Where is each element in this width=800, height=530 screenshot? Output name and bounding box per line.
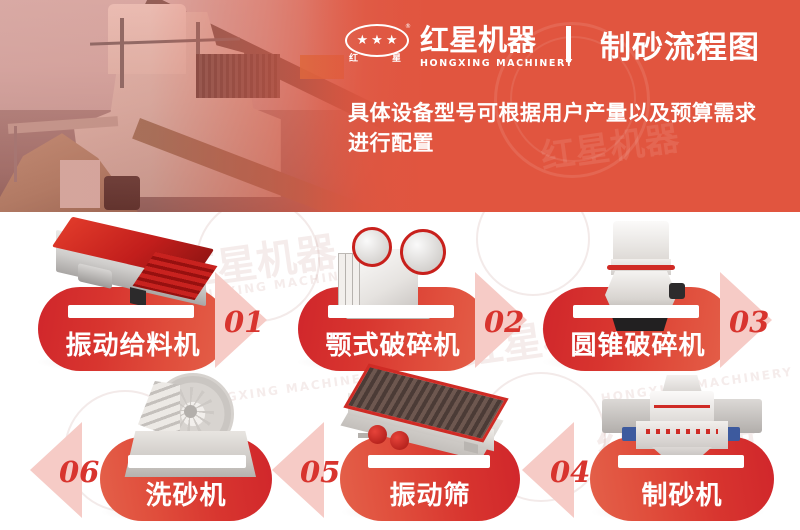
header-subtitle: 具体设备型号可根据用户产量以及预算需求进行配置	[348, 98, 768, 159]
step-04-label: 制砂机	[590, 475, 774, 512]
cone-crusher-motor	[669, 283, 685, 299]
sand-washer-tank	[122, 431, 256, 477]
step-05-accent-bar	[368, 455, 490, 468]
hongxing-logo-icon: ★ ★ ★ ® 红 星	[345, 24, 411, 70]
logo-subtext: 红 星	[345, 55, 405, 64]
sand-washer-hub	[184, 405, 197, 418]
cone-crusher-red-ring	[607, 265, 675, 270]
step-01-accent-bar	[68, 305, 194, 318]
logo-ellipse: ★ ★ ★	[345, 24, 409, 57]
step-01-number: 01	[224, 305, 264, 339]
flow-step-06[interactable]: 洗砂机 06	[42, 375, 292, 525]
logo-star-1: ★	[357, 34, 369, 47]
jaw-crusher-flywheel-right	[400, 229, 446, 275]
cone-crusher-icon	[591, 221, 691, 339]
logo-subtext-right: 星	[392, 55, 401, 64]
registered-trademark-icon: ®	[405, 23, 411, 30]
vibrating-feeder-icon	[52, 231, 217, 316]
vsi-red-stripe	[654, 405, 710, 408]
vibrating-screen-icon	[342, 375, 512, 467]
brand-name-cn: 红星机器	[420, 26, 574, 55]
step-03-number: 03	[729, 305, 769, 339]
flow-step-05[interactable]: 振动筛 05	[290, 375, 540, 525]
flow-step-04[interactable]: 制砂机 04	[540, 375, 790, 525]
header-banner: 红星机器 ★ ★ ★ ® 红 星 红星机器 HONGXING MACHINERY	[0, 0, 800, 212]
step-01-label: 振动给料机	[38, 325, 228, 362]
step-03-accent-bar	[573, 305, 699, 318]
step-05-label: 振动筛	[340, 475, 520, 512]
screen-counterweight-2	[390, 431, 409, 450]
feeder-support	[130, 287, 146, 307]
logo-subtext-left: 红	[349, 55, 358, 64]
step-05-number: 05	[300, 455, 340, 489]
step-02-number: 02	[484, 305, 524, 339]
flow-step-01[interactable]: 振动给料机 01	[28, 225, 278, 375]
cone-crusher-top-shell	[613, 221, 669, 261]
step-06-number: 06	[59, 455, 99, 489]
step-03-label: 圆锥破碎机	[543, 325, 733, 362]
vsi-body	[636, 421, 728, 449]
jaw-crusher-flywheel-left	[352, 227, 392, 267]
step-04-number: 04	[550, 455, 590, 489]
vsi-indicator-lights	[646, 429, 718, 434]
step-02-accent-bar	[328, 305, 454, 318]
logo-star-3: ★	[386, 34, 398, 47]
brand-lockup: ★ ★ ★ ® 红 星 红星机器 HONGXING MACHINERY	[345, 24, 574, 70]
step-06-label: 洗砂机	[100, 475, 272, 512]
page-title: 制砂流程图	[600, 22, 760, 67]
sand-making-flowchart-page: 红星机器 ★ ★ ★ ® 红 星 红星机器 HONGXING MACHINERY	[0, 0, 800, 530]
step-06-accent-bar	[128, 455, 246, 468]
logo-star-2: ★	[371, 34, 383, 47]
flow-step-03[interactable]: 圆锥破碎机 03	[533, 225, 783, 375]
header-divider	[566, 26, 571, 62]
brand-name-en: HONGXING MACHINERY	[420, 58, 574, 69]
brand-text: 红星机器 HONGXING MACHINERY	[420, 26, 574, 69]
step-04-accent-bar	[618, 455, 744, 468]
flow-step-02[interactable]: 颚式破碎机 02	[288, 225, 538, 375]
step-02-label: 颚式破碎机	[298, 325, 488, 362]
screen-counterweight-1	[368, 425, 387, 444]
